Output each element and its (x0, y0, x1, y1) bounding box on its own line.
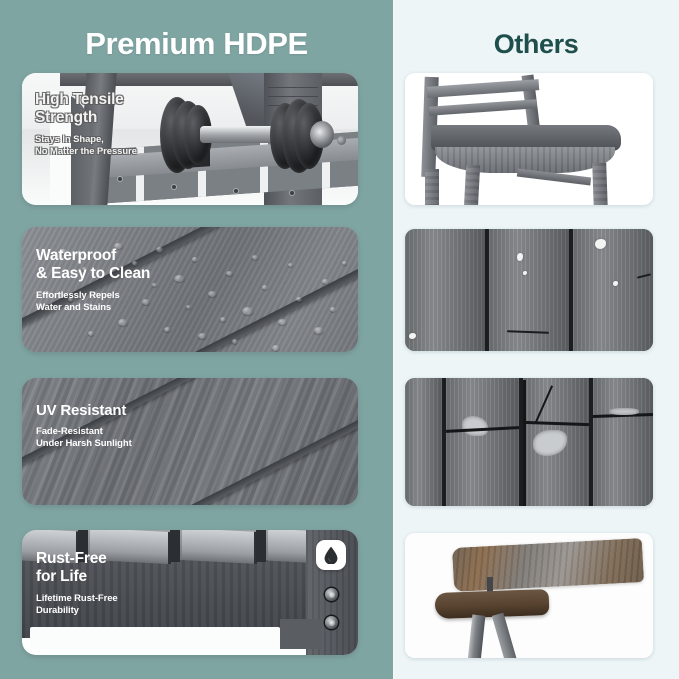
worn-chair-photo (405, 73, 653, 205)
others-card-worn-wood-chair[interactable] (405, 73, 653, 205)
feature-card-high-tensile-strength[interactable]: High Tensile Strength Stays In Shape, No… (22, 73, 358, 205)
panel-divider (393, 0, 394, 679)
water-drop-badge (316, 540, 346, 570)
feature-heading: Waterproof & Easy to Clean (36, 247, 150, 284)
others-card-cracked-planks[interactable] (405, 378, 653, 506)
water-drop-icon (323, 546, 339, 564)
feature-copy: UV Resistant Fade-Resistant Under Harsh … (36, 402, 132, 451)
feature-copy: High Tensile Strength Stays In Shape, No… (35, 91, 137, 159)
others-title: Others (393, 0, 679, 60)
rusty-chair-photo (405, 533, 653, 658)
others-card-stained-planks[interactable] (405, 229, 653, 351)
feature-card-waterproof[interactable]: Waterproof & Easy to Clean Effortlessly … (22, 227, 358, 352)
others-panel: Others (393, 0, 679, 679)
bolt-icon (325, 616, 338, 629)
feature-heading: Rust-Free for Life (36, 550, 118, 587)
feature-copy: Waterproof & Easy to Clean Effortlessly … (36, 247, 150, 315)
feature-subtext: Lifetime Rust-Free Durability (36, 593, 118, 618)
feature-heading: UV Resistant (36, 402, 132, 420)
others-card-rusty-chair[interactable] (405, 533, 653, 658)
dumbbell-icon (142, 99, 342, 171)
comparison-board: Premium HDPE (0, 0, 679, 679)
feature-copy: Rust-Free for Life Lifetime Rust-Free Du… (36, 550, 118, 618)
premium-hdpe-title: Premium HDPE (0, 0, 393, 62)
feature-subtext: Stays In Shape, No Matter the Pressure (35, 134, 137, 159)
cracked-planks-photo (405, 378, 653, 506)
feature-subtext: Effortlessly Repels Water and Stains (36, 290, 150, 315)
stained-planks-photo (405, 229, 653, 351)
feature-subtext: Fade-Resistant Under Harsh Sunlight (36, 426, 132, 451)
bolt-icon (325, 588, 338, 601)
feature-card-rust-free[interactable]: Rust-Free for Life Lifetime Rust-Free Du… (22, 530, 358, 655)
feature-heading: High Tensile Strength (35, 91, 137, 128)
feature-card-uv-resistant[interactable]: UV Resistant Fade-Resistant Under Harsh … (22, 378, 358, 505)
premium-hdpe-panel: Premium HDPE (0, 0, 393, 679)
